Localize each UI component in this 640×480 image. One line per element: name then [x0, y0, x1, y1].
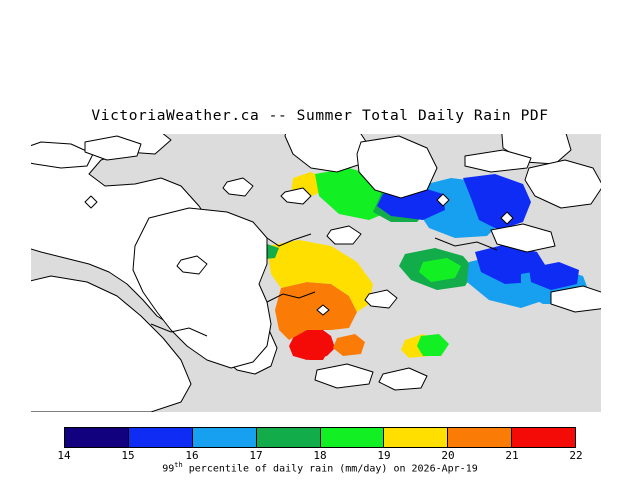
colorbar-caption-prefix: 99 [162, 463, 174, 474]
colorbar-band-6[interactable] [448, 428, 512, 447]
colorbar-band-2[interactable] [193, 428, 257, 447]
colorbar-caption-ordinal: th [174, 461, 182, 469]
land-isle-3 [327, 226, 361, 244]
land-isle-7 [379, 368, 427, 390]
land-isle-2 [223, 178, 253, 196]
map-svg [31, 134, 601, 412]
land-ne-island-b [525, 160, 601, 208]
colorbar-band-7[interactable] [512, 428, 575, 447]
coastline-detail-d [435, 238, 497, 250]
land-north-island-a [285, 134, 369, 172]
region-small-isle-green [417, 334, 449, 356]
colorbar[interactable] [64, 427, 576, 448]
colorbar-band-3[interactable] [257, 428, 321, 447]
colorbar-band-1[interactable] [129, 428, 193, 447]
colorbar-band-4[interactable] [321, 428, 385, 447]
colorbar-band-5[interactable] [384, 428, 448, 447]
weather-map-page: VictoriaWeather.ca -- Summer Total Daily… [0, 0, 640, 480]
colorbar-caption: 99th percentile of daily rain (mm/day) o… [0, 461, 640, 474]
colorbar-band-0[interactable] [65, 428, 129, 447]
map-panel[interactable] [31, 134, 601, 412]
land-isle-6 [315, 364, 373, 388]
colorbar-caption-rest: percentile of daily rain (mm/day) on 202… [183, 463, 478, 474]
page-title: VictoriaWeather.ca -- Summer Total Daily… [0, 108, 640, 124]
region-small-isle-orange [333, 334, 365, 356]
